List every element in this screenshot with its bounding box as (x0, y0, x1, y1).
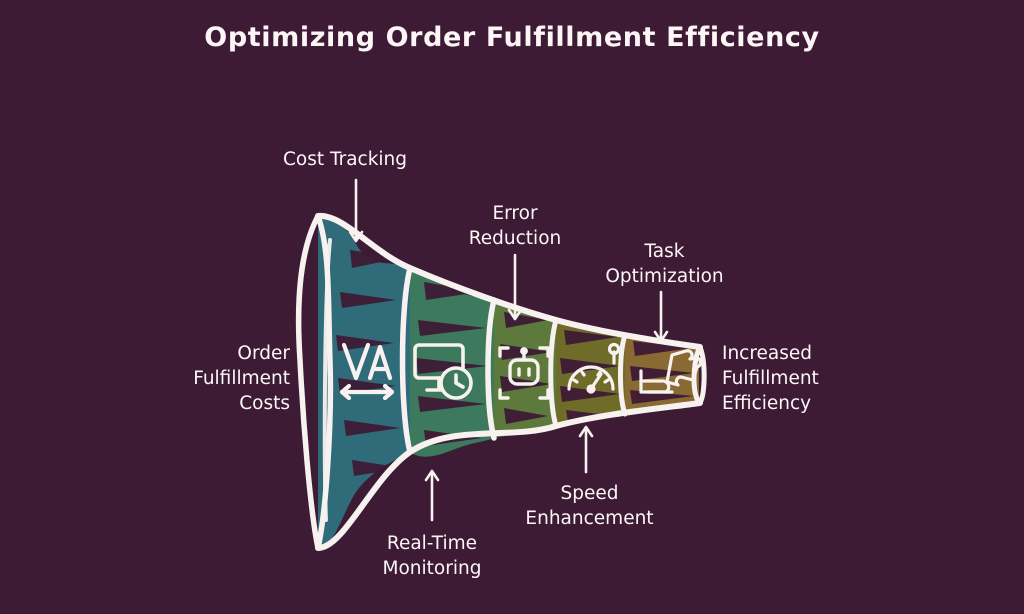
stage-label-task-optimization: Task Optimization (592, 239, 737, 289)
funnel-diagram (0, 0, 1024, 614)
stage-label-real-time-monitoring: Real-Time Monitoring (367, 531, 497, 581)
stage-label-error-reduction: Error Reduction (455, 201, 575, 251)
funnel-output-label: Increased Fulfillment Efficiency (722, 341, 897, 416)
callout-arrow-task-optimization (655, 292, 667, 341)
callout-arrow-speed-enhancement (580, 427, 592, 472)
callout-arrow-real-time-monitoring (426, 471, 438, 520)
funnel-segment-error-reduction[interactable] (494, 300, 556, 438)
funnel-input-label: Order Fulfillment Costs (150, 341, 290, 416)
infographic-canvas: Optimizing Order Fulfillment Efficiency (0, 0, 1024, 614)
stage-label-speed-enhancement: Speed Enhancement (517, 481, 662, 531)
stage-label-cost-tracking: Cost Tracking (283, 147, 407, 172)
